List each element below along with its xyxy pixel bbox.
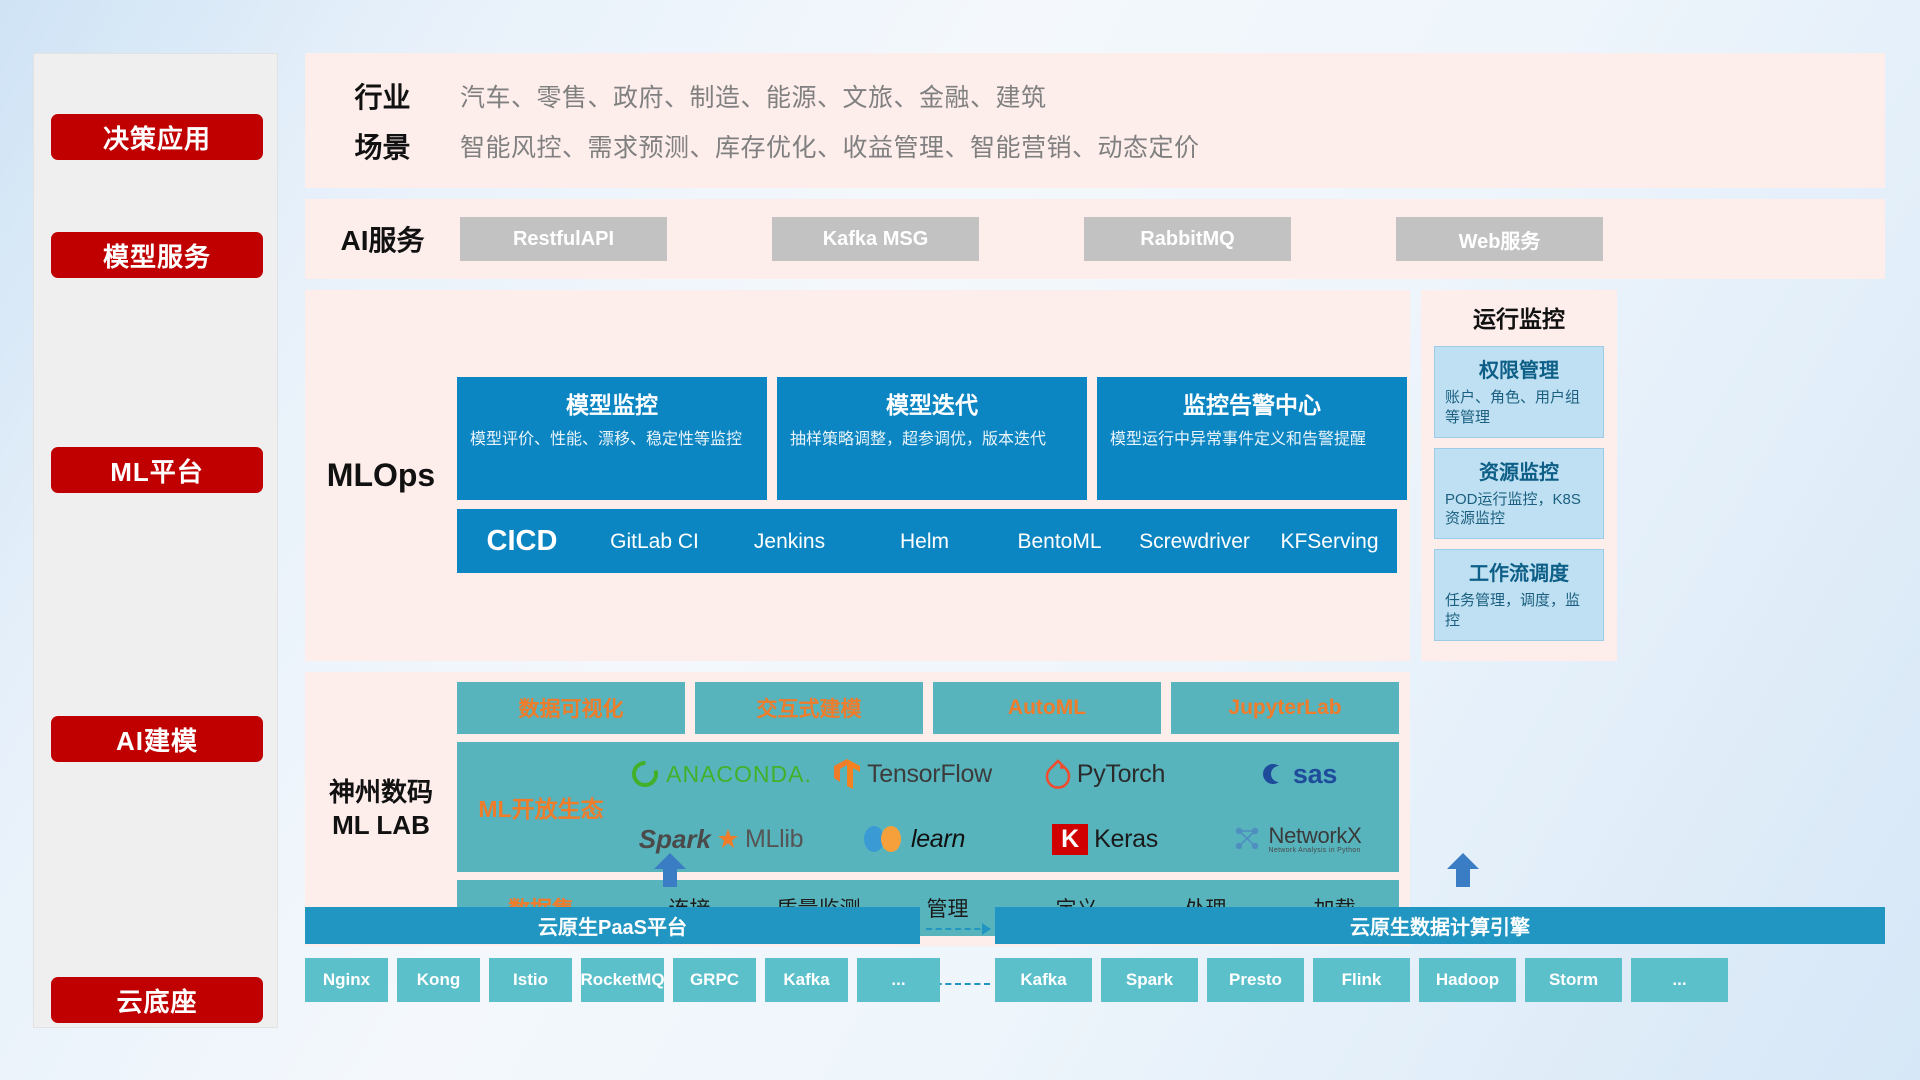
paas-chip-nginx[interactable]: Nginx (305, 958, 388, 1002)
mlops-card-model-monitoring[interactable]: 模型监控 模型评价、性能、漂移、稳定性等监控 (457, 377, 767, 500)
industry-row: 行业 汽车、零售、政府、制造、能源、文旅、金融、建筑 (305, 71, 1885, 121)
dce-up-arrow-icon (1445, 853, 1481, 887)
dce-chip-storm[interactable]: Storm (1525, 958, 1622, 1002)
keras-mark-icon: K (1052, 824, 1088, 855)
sas-wordmark: sas (1293, 759, 1337, 790)
monitor-card-resource[interactable]: 资源监控 POD运行监控，K8S资源监控 (1434, 448, 1604, 540)
cloud-base-zone: 云原生PaaS平台 云原生数据计算引擎 Nginx Kong Istio Roc… (305, 880, 1885, 1030)
anaconda-mark-icon (630, 759, 660, 789)
ai-service-label: AI服务 (305, 219, 460, 259)
paas-chip-rocketmq[interactable]: RocketMQ (581, 958, 664, 1002)
monitor-card-desc: POD运行监控，K8S资源监控 (1445, 490, 1593, 530)
mlops-row-wrapper: MLOps 模型监控 模型评价、性能、漂移、稳定性等监控 模型迭代 抽样策略调整… (305, 290, 1885, 661)
service-chip-kafka-msg[interactable]: Kafka MSG (772, 217, 979, 261)
spark-wordmark: Spark (639, 824, 711, 855)
cicd-item-bentoml[interactable]: BentoML (992, 527, 1127, 555)
cicd-bar: CICD GitLab CI Jenkins Helm BentoML Scre… (457, 509, 1397, 573)
monitor-card-desc: 账户、角色、用户组等管理 (1445, 388, 1593, 428)
paas-up-arrow-icon (652, 853, 688, 887)
spark-mllib-logo: Spark MLlib (639, 824, 804, 855)
mlops-card-desc: 模型评价、性能、漂移、稳定性等监控 (470, 429, 754, 451)
keras-wordmark: Keras (1094, 825, 1158, 854)
anaconda-wordmark: ANACONDA. (666, 761, 812, 788)
keras-logo: K Keras (1052, 824, 1158, 855)
tensorflow-logo: TensorFlow (834, 758, 992, 790)
ml-ecosystem-row: ML开放生态 ANACONDA. (457, 742, 1399, 872)
mlops-card-desc: 抽样策略调整，超参调优，版本迭代 (790, 429, 1074, 451)
ml-lab-tab-track: 数据可视化 交互式建模 AutoML JupyterLab (457, 682, 1399, 734)
monitor-card-title: 权限管理 (1445, 354, 1593, 383)
paas-chip-track: Nginx Kong Istio RocketMQ GRPC Kafka ... (305, 958, 940, 1002)
dce-chip-hadoop[interactable]: Hadoop (1419, 958, 1516, 1002)
mlops-card-title: 模型迭代 (790, 386, 1074, 420)
cicd-item-screwdriver[interactable]: Screwdriver (1127, 527, 1262, 555)
dce-chip-spark[interactable]: Spark (1101, 958, 1198, 1002)
tensorflow-wordmark: TensorFlow (867, 760, 992, 789)
industry-label: 行业 (305, 76, 460, 116)
paas-to-dce-arrow-icon (926, 928, 990, 930)
scenario-label: 场景 (305, 126, 460, 166)
dce-chip-presto[interactable]: Presto (1207, 958, 1304, 1002)
cicd-title: CICD (457, 525, 587, 558)
main-stack: 行业 汽车、零售、政府、制造、能源、文旅、金融、建筑 场景 智能风控、需求预测、… (305, 53, 1885, 946)
rail-item-cloud-base[interactable]: 云底座 (51, 977, 263, 1023)
mlops-card-alert-center[interactable]: 监控告警中心 模型运行中异常事件定义和告警提醒 (1097, 377, 1407, 500)
service-chip-web-service[interactable]: Web服务 (1396, 217, 1603, 261)
scikit-learn-mark-icon (861, 824, 905, 854)
paas-header: 云原生PaaS平台 (305, 907, 920, 944)
rail-item-decision-app[interactable]: 决策应用 (51, 114, 263, 160)
monitor-card-title: 资源监控 (1445, 456, 1593, 485)
mlops-card-track: 模型监控 模型评价、性能、漂移、稳定性等监控 模型迭代 抽样策略调整，超参调优，… (457, 377, 1407, 500)
networkx-logo: NetworkX Network Analysis in Python (1233, 824, 1362, 854)
dce-header: 云原生数据计算引擎 (995, 907, 1885, 944)
dce-chip-track: Kafka Spark Presto Flink Hadoop Storm ..… (995, 958, 1728, 1002)
cicd-item-gitlab-ci[interactable]: GitLab CI (587, 527, 722, 555)
rail-item-ai-modeling[interactable]: AI建模 (51, 716, 263, 762)
cicd-item-helm[interactable]: Helm (857, 527, 992, 555)
dce-chip-flink[interactable]: Flink (1313, 958, 1410, 1002)
dce-chip-more[interactable]: ... (1631, 958, 1728, 1002)
rail-item-ml-platform[interactable]: ML平台 (51, 447, 263, 493)
learn-wordmark: learn (911, 825, 965, 854)
scikit-learn-logo: learn (861, 824, 965, 854)
mlops-label: MLOps (305, 457, 457, 494)
mllib-wordmark: MLlib (745, 825, 803, 854)
ai-service-band: AI服务 RestfulAPI Kafka MSG RabbitMQ Web服务 (305, 199, 1885, 279)
mlops-card-title: 模型监控 (470, 386, 754, 420)
cicd-item-kfserving[interactable]: KFServing (1262, 527, 1397, 555)
monitor-card-desc: 任务管理，调度，监控 (1445, 591, 1593, 631)
tab-jupyterlab[interactable]: JupyterLab (1171, 682, 1399, 734)
paas-chip-grpc[interactable]: GRPC (673, 958, 756, 1002)
networkx-tagline: Network Analysis in Python (1269, 847, 1362, 854)
paas-chip-istio[interactable]: Istio (489, 958, 572, 1002)
rail-item-model-service[interactable]: 模型服务 (51, 232, 263, 278)
spark-star-icon (717, 828, 739, 850)
mlops-band: MLOps 模型监控 模型评价、性能、漂移、稳定性等监控 模型迭代 抽样策略调整… (305, 290, 1410, 661)
ml-ecosystem-label: ML开放生态 (457, 790, 625, 824)
ml-lab-label-line1: 神州数码 (305, 776, 457, 809)
industry-value: 汽车、零售、政府、制造、能源、文旅、金融、建筑 (460, 78, 1047, 114)
mlops-card-model-iteration[interactable]: 模型迭代 抽样策略调整，超参调优，版本迭代 (777, 377, 1087, 500)
runtime-monitor-column: 运行监控 权限管理 账户、角色、用户组等管理 资源监控 POD运行监控，K8S资… (1421, 290, 1617, 661)
pytorch-wordmark: PyTorch (1077, 760, 1165, 789)
pytorch-logo: PyTorch (1045, 759, 1165, 789)
tab-automl[interactable]: AutoML (933, 682, 1161, 734)
service-chip-rabbitmq[interactable]: RabbitMQ (1084, 217, 1291, 261)
mlops-card-title: 监控告警中心 (1110, 386, 1394, 420)
ml-ecosystem-logo-grid: ANACONDA. TensorFlow (625, 742, 1399, 872)
tab-data-visualization[interactable]: 数据可视化 (457, 682, 685, 734)
runtime-monitor-title: 运行监控 (1473, 300, 1565, 334)
monitor-card-workflow[interactable]: 工作流调度 任务管理，调度，监控 (1434, 549, 1604, 641)
tab-interactive-modeling[interactable]: 交互式建模 (695, 682, 923, 734)
paas-chip-kong[interactable]: Kong (397, 958, 480, 1002)
scenario-value: 智能风控、需求预测、库存优化、收益管理、智能营销、动态定价 (460, 128, 1200, 164)
pytorch-mark-icon (1045, 759, 1071, 789)
paas-chip-more[interactable]: ... (857, 958, 940, 1002)
ml-lab-label: 神州数码 ML LAB (305, 776, 457, 843)
paas-chip-kafka[interactable]: Kafka (765, 958, 848, 1002)
cicd-item-track: GitLab CI Jenkins Helm BentoML Screwdriv… (587, 527, 1397, 555)
scenario-row: 场景 智能风控、需求预测、库存优化、收益管理、智能营销、动态定价 (305, 121, 1885, 171)
monitor-card-title: 工作流调度 (1445, 557, 1593, 586)
monitor-card-permission[interactable]: 权限管理 账户、角色、用户组等管理 (1434, 346, 1604, 438)
ai-service-chip-track: RestfulAPI Kafka MSG RabbitMQ Web服务 (460, 217, 1603, 261)
mlops-content: 模型监控 模型评价、性能、漂移、稳定性等监控 模型迭代 抽样策略调整，超参调优，… (457, 377, 1407, 573)
cicd-item-jenkins[interactable]: Jenkins (722, 527, 857, 555)
mlops-card-desc: 模型运行中异常事件定义和告警提醒 (1110, 429, 1394, 451)
dce-chip-kafka[interactable]: Kafka (995, 958, 1092, 1002)
left-rail: 决策应用 模型服务 ML平台 AI建模 云底座 (33, 53, 278, 1028)
industry-scenario-band: 行业 汽车、零售、政府、制造、能源、文旅、金融、建筑 场景 智能风控、需求预测、… (305, 53, 1885, 188)
tensorflow-mark-icon (834, 758, 861, 790)
networkx-mark-icon (1233, 824, 1263, 854)
service-chip-restfulapi[interactable]: RestfulAPI (460, 217, 667, 261)
ml-lab-label-line2: ML LAB (305, 809, 457, 842)
anaconda-logo: ANACONDA. (630, 759, 812, 789)
networkx-wordmark: NetworkX (1269, 825, 1362, 847)
sas-mark-icon (1257, 759, 1287, 789)
sas-logo: sas (1257, 759, 1337, 790)
